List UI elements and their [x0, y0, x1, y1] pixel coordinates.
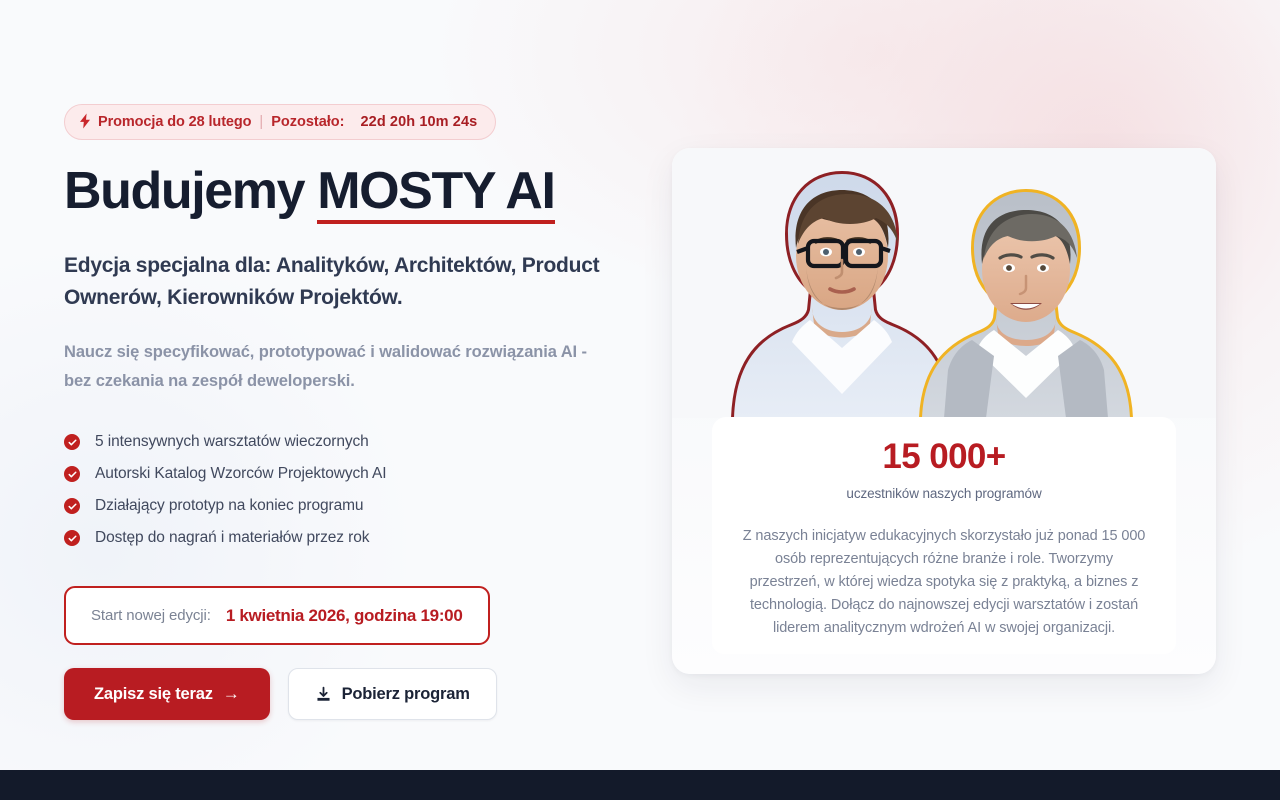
stats-card: 15 000+ uczestników naszych programów Z …	[672, 148, 1216, 674]
hero-subheadline: Edycja specjalna dla: Analityków, Archit…	[64, 250, 604, 314]
feature-label: 5 intensywnych warsztatów wieczornych	[95, 433, 369, 451]
check-circle-icon	[64, 498, 80, 514]
signup-button[interactable]: Zapisz się teraz →	[64, 668, 270, 720]
headline-plain: Budujemy	[64, 162, 317, 220]
download-program-button[interactable]: Pobierz program	[288, 668, 497, 720]
page-title: Budujemy MOSTY AI	[64, 164, 664, 224]
promo-label: Promocja do 28 lutego	[98, 115, 251, 130]
hero-left-column: Promocja do 28 lutego | Pozostało: 22d 2…	[64, 0, 664, 720]
next-edition-date-box: Start nowej edycji: 1 kwietnia 2026, god…	[64, 586, 490, 645]
footer-strip	[0, 770, 1280, 800]
cta-row: Zapisz się teraz → Pobierz program	[64, 668, 664, 720]
promo-remaining-label: Pozostało:	[271, 115, 344, 130]
stats-panel: 15 000+ uczestników naszych programów Z …	[712, 417, 1176, 654]
feature-label: Autorski Katalog Wzorców Projektowych AI	[95, 465, 386, 483]
feature-label: Dostęp do nagrań i materiałów przez rok	[95, 529, 369, 547]
next-edition-value: 1 kwietnia 2026, godzina 19:00	[226, 606, 463, 626]
hero-page: Promocja do 28 lutego | Pozostało: 22d 2…	[0, 0, 1280, 800]
check-circle-icon	[64, 466, 80, 482]
stats-description: Z naszych inicjatyw edukacyjnych skorzys…	[732, 525, 1156, 640]
promo-divider: |	[258, 115, 264, 130]
download-icon	[315, 686, 332, 703]
check-circle-icon	[64, 434, 80, 450]
signup-button-label: Zapisz się teraz	[94, 685, 213, 704]
lightning-bolt-icon	[80, 113, 91, 130]
feature-label: Działający prototyp na koniec programu	[95, 497, 363, 515]
check-circle-icon	[64, 530, 80, 546]
next-edition-label: Start nowej edycji:	[91, 607, 211, 624]
feature-list: 5 intensywnych warsztatów wieczornych Au…	[64, 426, 664, 554]
instructors-photo	[672, 148, 1216, 418]
list-item: 5 intensywnych warsztatów wieczornych	[64, 426, 664, 458]
list-item: Dostęp do nagrań i materiałów przez rok	[64, 522, 664, 554]
download-program-label: Pobierz program	[342, 685, 470, 704]
arrow-right-icon: →	[223, 684, 240, 704]
participants-caption: uczestników naszych programów	[732, 486, 1156, 501]
hero-lede: Naucz się specyfikować, prototypować i w…	[64, 338, 604, 396]
headline-accent: MOSTY AI	[317, 165, 554, 224]
list-item: Autorski Katalog Wzorców Projektowych AI	[64, 458, 664, 490]
promo-countdown-badge[interactable]: Promocja do 28 lutego | Pozostało: 22d 2…	[64, 104, 496, 140]
list-item: Działający prototyp na koniec programu	[64, 490, 664, 522]
promo-countdown-value: 22d 20h 10m 24s	[361, 115, 478, 130]
participants-count: 15 000+	[732, 439, 1156, 474]
